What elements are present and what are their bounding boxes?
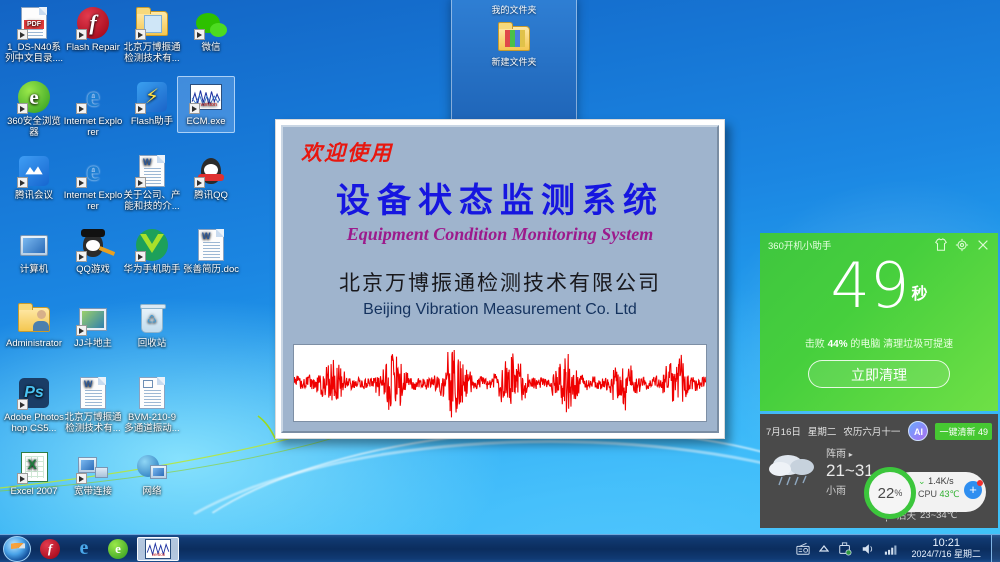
desktop-icon-internet-explorer-1[interactable]: e Internet Explorer	[63, 80, 123, 138]
splash-dialog[interactable]: 欢迎使用 设备状态监测系统 Equipment Condition Monito…	[275, 119, 725, 439]
ecm-taskbar-button[interactable]: vertion	[137, 537, 179, 561]
user-folder-icon	[17, 302, 51, 336]
show-hidden-icons-icon[interactable]	[819, 544, 829, 554]
volume-icon[interactable]	[861, 542, 875, 556]
desktop-icon-label: 腾讯会议	[4, 191, 64, 202]
show-desktop-button[interactable]	[991, 535, 1000, 562]
desktop-icon-network[interactable]: 网络	[122, 450, 182, 498]
flash-icon: f	[40, 539, 60, 559]
folder-window-title: 我的文件夹	[452, 0, 576, 16]
ie-taskbar-button[interactable]: e	[69, 537, 99, 561]
jj-game-icon	[76, 302, 110, 336]
word-document-icon: W	[135, 154, 169, 188]
desktop-icon-flash-repair[interactable]: f Flash Repair	[63, 6, 123, 54]
splash-panel: 欢迎使用 设备状态监测系统 Equipment Condition Monito…	[281, 125, 719, 433]
network-signal-icon[interactable]	[884, 542, 898, 556]
chevron-down-icon: ⌄	[918, 476, 926, 486]
widget-360-countdown-unit: 秒	[911, 284, 927, 303]
cpu-usage-value: 22	[878, 485, 895, 502]
widget-360-countdown-value: 49	[831, 249, 910, 322]
word-document-icon: W	[76, 376, 110, 410]
browser-360-taskbar-button[interactable]: e	[103, 537, 133, 561]
cpu-temp-label: CPU	[918, 489, 937, 499]
document-icon	[135, 376, 169, 410]
widget-360-title: 360开机小助手	[768, 238, 831, 252]
qq-games-icon	[76, 228, 110, 262]
desktop-icon-excel-2007[interactable]: X Excel 2007	[4, 450, 64, 498]
desktop-icon-label: 1_DS-N40系列中文目录....	[4, 43, 64, 64]
desktop-icon-label: Flash助手	[122, 117, 182, 128]
network-speed-value: 1.4K/s	[928, 476, 954, 486]
folder-color-icon	[498, 26, 530, 51]
internet-explorer-icon: e	[80, 537, 89, 560]
weather-condition: 阵雨 ▸	[826, 445, 874, 460]
weather-body: 阵雨 ▸ 21~31 小雨 ⌄ 1.4K/s CPU 43℃ + 22%	[760, 441, 998, 497]
ai-badge[interactable]: AI	[908, 421, 928, 441]
desktop-icon-label: 张善简历.doc	[181, 265, 241, 276]
desktop-icon-company-intro-doc[interactable]: W 关于公司、产能和技的介...	[122, 154, 182, 212]
svg-text:vertion: vertion	[152, 552, 166, 557]
widget-360-subtext-pct: 44%	[828, 339, 848, 350]
desktop-icon-tencent-meeting[interactable]: 腾讯会议	[4, 154, 64, 202]
system-title-en: Equipment Condition Monitoring System	[283, 224, 717, 245]
desktop-icon-label: 宽带连接	[63, 487, 123, 498]
excel-icon: X	[17, 450, 51, 484]
widget-360-countdown: 49秒	[760, 255, 998, 325]
desktop-icon-label: 回收站	[122, 339, 182, 350]
recycle-bin-icon: ♺	[135, 302, 169, 336]
desktop-background[interactable]: PDF 1_DS-N40系列中文目录.... f Flash Repair 北京…	[0, 0, 1000, 534]
desktop-icon-recycle-bin[interactable]: ♺ 回收站	[122, 302, 182, 350]
gear-icon[interactable]	[955, 238, 969, 252]
shirt-icon[interactable]	[934, 238, 948, 252]
desktop-icon-label: Administrator	[4, 339, 64, 350]
ecm-waveform-icon: vertion	[189, 80, 223, 114]
weather-condition-label: 阵雨	[826, 449, 846, 460]
weather-weekday: 星期二	[808, 424, 837, 438]
folder-window[interactable]: 我的文件夹 新建文件夹	[451, 0, 577, 124]
internet-explorer-icon: e	[76, 154, 110, 188]
add-button[interactable]: +	[964, 481, 982, 499]
rain-cloud-icon	[766, 445, 824, 491]
flash-taskbar-button[interactable]: f	[35, 537, 65, 561]
vibration-waveform-chart	[293, 344, 707, 422]
pdf-document-icon: PDF	[17, 6, 51, 40]
desktop-icon-label: 华为手机助手	[122, 265, 182, 276]
desktop-icon-resume-doc[interactable]: W 张善简历.doc	[181, 228, 241, 276]
close-icon[interactable]	[976, 238, 990, 252]
desktop-icon-huawei-assistant[interactable]: 华为手机助手	[122, 228, 182, 276]
cpu-temp-value: 43℃	[940, 489, 960, 499]
desktop-icon-company-doc[interactable]: W 北京万博振通检测技术有...	[63, 376, 123, 434]
desktop-icon-label: BVM-210-9 多通道振动...	[122, 413, 182, 434]
desktop-icon-label: ECM.exe	[178, 117, 234, 128]
desktop-icon-label: Internet Explorer	[63, 117, 123, 138]
one-click-clean-chip[interactable]: 一键清新 49	[935, 423, 992, 440]
start-button-icon[interactable]	[3, 536, 31, 562]
desktop-icon-photoshop[interactable]: Ps Adobe Photoshop CS5...	[4, 376, 64, 434]
desktop-icon-internet-explorer-2[interactable]: e Internet Explorer	[63, 154, 123, 212]
widget-360-subtext-suffix: 的电脑 清理垃圾可提速	[848, 339, 954, 350]
photoshop-icon: Ps	[17, 376, 51, 410]
desktop-icon-qq-games[interactable]: QQ游戏	[63, 228, 123, 276]
clock-time: 10:21	[911, 538, 981, 549]
system-title-cn: 设备状态监测系统	[283, 173, 717, 222]
weather-lunar: 农历六月十一	[843, 424, 900, 438]
desktop-icon-computer[interactable]: 计算机	[4, 228, 64, 276]
wechat-icon	[194, 6, 228, 40]
ecm-waveform-icon: vertion	[145, 539, 171, 559]
safely-remove-icon[interactable]	[838, 542, 852, 556]
desktop-icon-label: Internet Explorer	[63, 191, 123, 212]
chevron-right-icon[interactable]: ▸	[849, 450, 853, 459]
network-icon	[135, 450, 169, 484]
weather-date-line: 7月16日 星期二 农历六月十一 AI 一键清新 49	[760, 414, 998, 441]
qq-penguin-icon	[194, 154, 228, 188]
desktop-icon-label: JJ斗地主	[63, 339, 123, 350]
desktop-icon-ecm-exe[interactable]: vertion ECM.exe	[177, 76, 235, 133]
widget-360-subtext-prefix: 击败	[805, 339, 828, 350]
weather-temp-range: 21~31	[826, 461, 874, 481]
browser-360-icon: e	[17, 80, 51, 114]
tencent-meeting-icon	[17, 154, 51, 188]
radio-icon[interactable]	[796, 542, 810, 556]
taskbar[interactable]: f e e vertion	[0, 534, 1000, 562]
clock-date: 2024/7/16 星期二	[911, 549, 981, 560]
company-name-cn: 北京万博振通检测技术有限公司	[283, 267, 717, 297]
desktop-icon-label: 腾讯QQ	[181, 191, 241, 202]
widget-weather-system[interactable]: 7月16日 星期二 农历六月十一 AI 一键清新 49	[760, 414, 998, 528]
desktop-icon-label: 北京万博振通检测技术有...	[122, 43, 182, 64]
cpu-usage-ring[interactable]: 22%	[864, 467, 916, 519]
desktop-icon-flash-helper[interactable]: ⚡ Flash助手	[122, 80, 182, 128]
computer-icon	[17, 228, 51, 262]
desktop-icon-label: QQ游戏	[63, 265, 123, 276]
desktop-icon-label: 网络	[122, 487, 182, 498]
desktop-icon-label: 360安全浏览器	[4, 117, 64, 138]
system-tray[interactable]: 10:21 2024/7/16 星期二	[796, 538, 987, 560]
welcome-text: 欢迎使用	[301, 137, 393, 167]
broadband-connection-icon	[76, 450, 110, 484]
desktop-icon-broadband-connection[interactable]: 宽带连接	[63, 450, 123, 498]
company-name-en: Beijing Vibration Measurement Co. Ltd	[283, 301, 717, 319]
folder-icon	[135, 6, 169, 40]
clean-now-button[interactable]: 立即清理	[808, 360, 950, 388]
desktop-icon-label: 微信	[181, 43, 241, 54]
folder-window-item-label: 新建文件夹	[491, 57, 536, 67]
svg-text:vertion: vertion	[200, 102, 217, 108]
internet-explorer-icon: e	[76, 80, 110, 114]
desktop-icon-wechat[interactable]: 微信	[181, 6, 241, 54]
desktop-icon-jj-game[interactable]: JJ斗地主	[63, 302, 123, 350]
folder-window-item[interactable]: 新建文件夹	[452, 26, 576, 68]
cpu-usage-unit: %	[894, 488, 902, 498]
waveform-svg	[294, 345, 706, 421]
huawei-assistant-icon	[135, 228, 169, 262]
weather-date: 7月16日	[766, 424, 801, 438]
desktop-icon-360-browser[interactable]: e 360安全浏览器	[4, 80, 64, 138]
desktop-icon-label: Flash Repair	[63, 43, 123, 54]
desktop-icon-bvm-doc[interactable]: BVM-210-9 多通道振动...	[122, 376, 182, 434]
browser-360-icon: e	[108, 539, 128, 559]
desktop-icon-label: 关于公司、产能和技的介...	[122, 191, 182, 212]
desktop-icon-pdf-catalog[interactable]: PDF 1_DS-N40系列中文目录....	[4, 6, 64, 64]
flash-icon: f	[76, 6, 110, 40]
taskbar-clock[interactable]: 10:21 2024/7/16 星期二	[907, 538, 981, 560]
word-document-icon: W	[194, 228, 228, 262]
desktop-icon-label: Adobe Photoshop CS5...	[4, 413, 64, 434]
desktop-icon-label: Excel 2007	[4, 487, 64, 498]
widget-360-subtext: 击败 44% 的电脑 清理垃圾可提速	[760, 335, 998, 350]
widget-360-boot-assistant[interactable]: 360开机小助手 49秒 击败 44% 的电脑 清理垃圾可提速	[760, 233, 998, 411]
desktop-icon-tencent-qq[interactable]: 腾讯QQ	[181, 154, 241, 202]
desktop-icon-company-folder[interactable]: 北京万博振通检测技术有...	[122, 6, 182, 64]
desktop-icon-administrator[interactable]: Administrator	[4, 302, 64, 350]
flash-helper-icon: ⚡	[135, 80, 169, 114]
desktop-icon-label: 计算机	[4, 265, 64, 276]
desktop-icon-label: 北京万博振通检测技术有...	[63, 413, 123, 434]
